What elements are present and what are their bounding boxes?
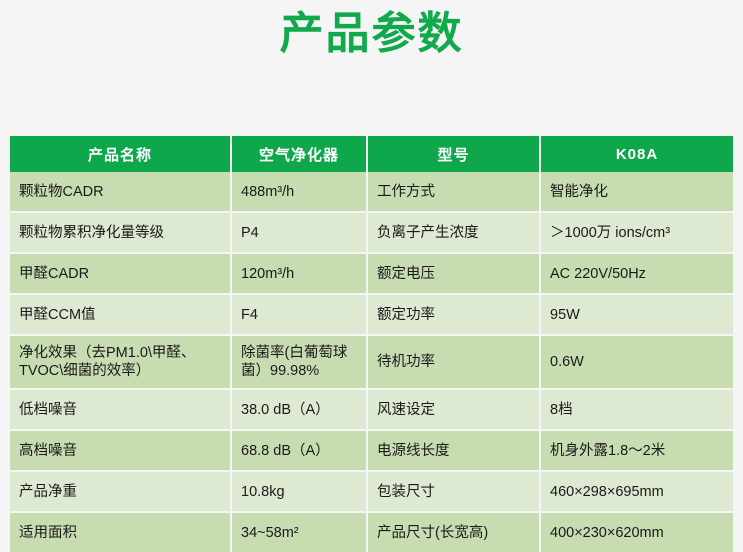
spec-value: 488m³/h (232, 172, 368, 213)
spec-value: 智能净化 (541, 172, 733, 213)
spec-value: 68.8 dB（A） (232, 431, 368, 472)
spec-label: 额定电压 (368, 254, 541, 295)
spec-label: 颗粒物CADR (10, 172, 232, 213)
spec-label: 待机功率 (368, 336, 541, 390)
spec-value: AC 220V/50Hz (541, 254, 733, 295)
spec-value: 400×230×620mm (541, 513, 733, 552)
spec-value: P4 (232, 213, 368, 254)
spec-label: 适用面积 (10, 513, 232, 552)
spec-value: F4 (232, 295, 368, 336)
table-row: 产品净重 10.8kg 包装尺寸 460×298×695mm (10, 472, 733, 513)
spec-value: 机身外露1.8～2米 (541, 431, 733, 472)
table-row: 颗粒物累积净化量等级 P4 负离子产生浓度 ＞1000万 ions/cm³ (10, 213, 733, 254)
table-row: 甲醛CCM值 F4 额定功率 95W (10, 295, 733, 336)
spec-label: 额定功率 (368, 295, 541, 336)
table-row: 高档噪音 68.8 dB（A） 电源线长度 机身外露1.8～2米 (10, 431, 733, 472)
table-header-cell-model-label: 型号 (368, 136, 541, 172)
product-spec-table: 产品名称 空气净化器 型号 K08A 颗粒物CADR 488m³/h 工作方式 … (10, 136, 733, 552)
spec-value: 34~58m² (232, 513, 368, 552)
spec-label: 电源线长度 (368, 431, 541, 472)
table-row: 甲醛CADR 120m³/h 额定电压 AC 220V/50Hz (10, 254, 733, 295)
spec-value: 460×298×695mm (541, 472, 733, 513)
spec-label: 产品净重 (10, 472, 232, 513)
table-header-cell-model-value: K08A (541, 136, 733, 172)
spec-label: 高档噪音 (10, 431, 232, 472)
page-title: 产品参数 (0, 6, 743, 62)
spec-label: 净化效果（去PM1.0\甲醛、TVOC\细菌的效率） (10, 336, 232, 390)
spec-label: 低档噪音 (10, 390, 232, 431)
table-row: 颗粒物CADR 488m³/h 工作方式 智能净化 (10, 172, 733, 213)
spec-value: 10.8kg (232, 472, 368, 513)
spec-label: 负离子产生浓度 (368, 213, 541, 254)
table-row: 低档噪音 38.0 dB（A） 风速设定 8档 (10, 390, 733, 431)
spec-value: 0.6W (541, 336, 733, 390)
spec-label: 风速设定 (368, 390, 541, 431)
spec-label: 甲醛CCM值 (10, 295, 232, 336)
spec-value: 8档 (541, 390, 733, 431)
table-row: 适用面积 34~58m² 产品尺寸(长宽高) 400×230×620mm (10, 513, 733, 552)
spec-value: 95W (541, 295, 733, 336)
table-header-cell-product-type: 空气净化器 (232, 136, 368, 172)
spec-label: 颗粒物累积净化量等级 (10, 213, 232, 254)
spec-label: 工作方式 (368, 172, 541, 213)
table-header-row: 产品名称 空气净化器 型号 K08A (10, 136, 733, 172)
table-header-cell-product-name: 产品名称 (10, 136, 232, 172)
spec-value: 120m³/h (232, 254, 368, 295)
spec-value: 除菌率(白葡萄球菌）99.98% (232, 336, 368, 390)
spec-label: 包装尺寸 (368, 472, 541, 513)
spec-value: ＞1000万 ions/cm³ (541, 213, 733, 254)
product-spec-page: 产品参数 产品名称 空气净化器 型号 K08A 颗粒物CADR 488m³/h … (0, 0, 743, 510)
table-row: 净化效果（去PM1.0\甲醛、TVOC\细菌的效率） 除菌率(白葡萄球菌）99.… (10, 336, 733, 390)
spec-value: 38.0 dB（A） (232, 390, 368, 431)
table-body: 颗粒物CADR 488m³/h 工作方式 智能净化 颗粒物累积净化量等级 P4 … (10, 172, 733, 552)
spec-label: 产品尺寸(长宽高) (368, 513, 541, 552)
spec-label: 甲醛CADR (10, 254, 232, 295)
